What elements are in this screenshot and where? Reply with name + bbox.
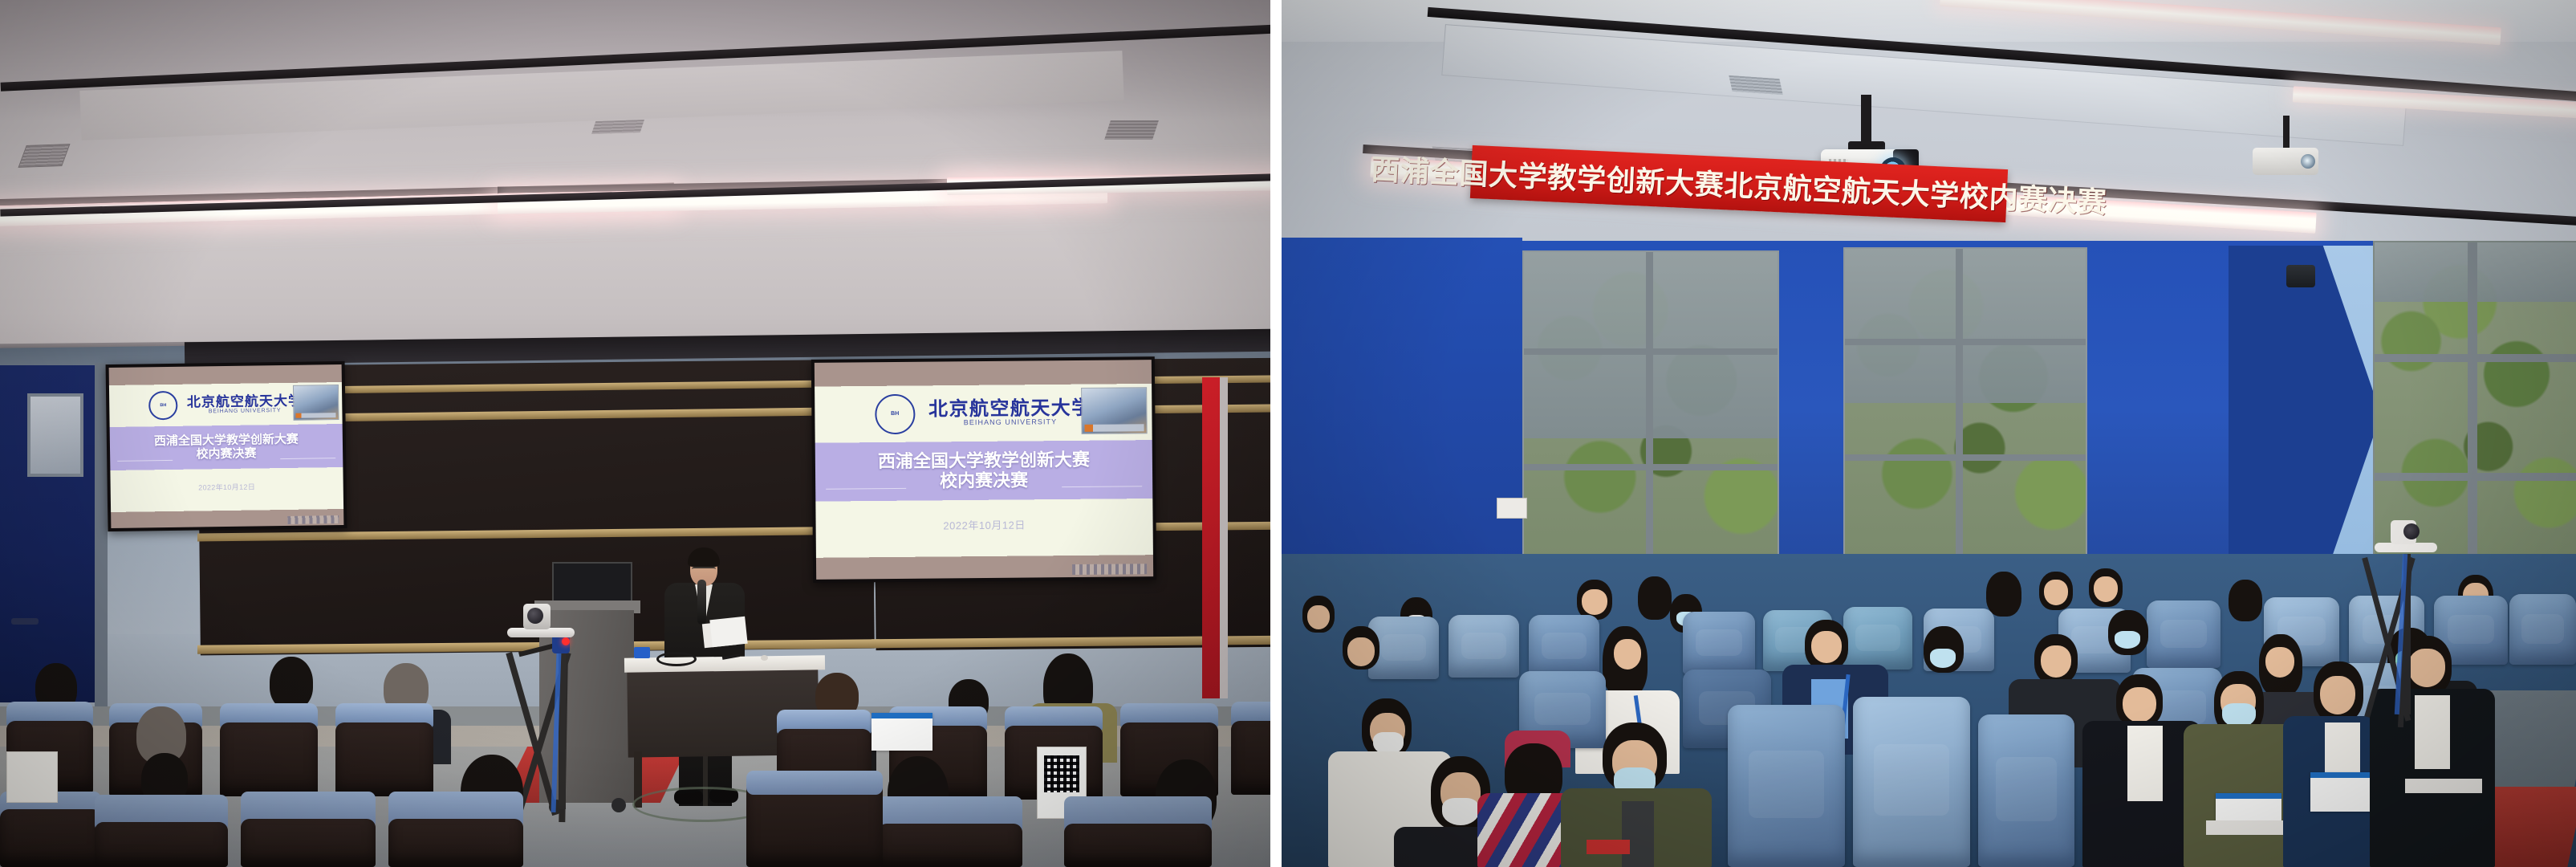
seat-back[interactable] — [878, 824, 1022, 867]
slide-date: 2022年10月12日 — [111, 480, 343, 494]
judge-face — [2408, 649, 2445, 687]
notebook — [1587, 840, 1630, 854]
door-handle[interactable] — [11, 618, 39, 625]
audience-head — [2229, 580, 2262, 621]
seat-back[interactable] — [1064, 824, 1212, 867]
coiled-cable — [656, 652, 697, 666]
camera-lens-icon — [2403, 523, 2420, 539]
audience-face — [1307, 605, 1330, 629]
auditorium-seat[interactable] — [1728, 705, 1845, 867]
blue-box-object — [634, 647, 650, 658]
slide-title-line2: 校内赛决赛 — [940, 470, 1028, 491]
judge-face — [2320, 676, 2355, 714]
beihang-logo-icon: BH — [148, 391, 177, 420]
projector-mount — [2283, 116, 2290, 149]
window-shade[interactable] — [1845, 249, 2086, 403]
face-mask — [1442, 798, 1479, 825]
paper-stack — [2405, 779, 2482, 793]
window-mullion — [1845, 339, 2086, 345]
slide-title-line1: 西浦全国大学教学创新大赛 — [154, 432, 299, 448]
wall-speaker — [2286, 265, 2315, 287]
qr-code-icon — [1044, 755, 1079, 792]
audience-face — [1347, 637, 1375, 666]
ceiling-vent-icon — [1104, 120, 1159, 140]
window-mullion — [1524, 348, 1778, 355]
blue-wall-left — [1282, 238, 1522, 583]
right-photo: 西浦全国大学教学创新大赛北京航空航天大学校内赛决赛 — [1282, 0, 2576, 867]
wall-outlet[interactable] — [1497, 498, 1527, 519]
screenshot-root: BH 北京航空航天大学 BEIHANG UNIVERSITY 西浦全国大学教学创… — [0, 0, 2576, 867]
placard-name — [2310, 781, 2378, 789]
microphone-icon — [697, 580, 706, 625]
judge-shirt — [2415, 695, 2450, 769]
window-mullion — [1524, 464, 1778, 470]
audience-head — [1638, 576, 1672, 620]
projection-screen-right: BH 北京航空航天大学 BEIHANG UNIVERSITY 西浦全国大学教学创… — [811, 356, 1156, 583]
window-mullion — [1646, 252, 1653, 573]
window-mullion — [1956, 249, 1963, 570]
slide-date: 2022年10月12日 — [816, 516, 1153, 535]
left-photo: BH 北京航空航天大学 BEIHANG UNIVERSITY 西浦全国大学教学创… — [0, 0, 1270, 867]
slide-university: 北京航空航天大学 BEIHANG UNIVERSITY — [928, 399, 1092, 427]
placard-name — [872, 722, 932, 730]
seat-back[interactable] — [220, 722, 318, 796]
seat-back[interactable] — [1231, 721, 1270, 795]
seat-back[interactable] — [0, 809, 101, 867]
paper-sheet — [6, 751, 58, 803]
face-mask — [1930, 649, 1956, 668]
placard-name — [2216, 802, 2281, 810]
window-mullion — [2375, 473, 2576, 481]
slide-university: 北京航空航天大学 BEIHANG UNIVERSITY — [187, 394, 303, 415]
ceiling-vent-icon — [18, 144, 70, 168]
slide-university-cn: 北京航空航天大学 — [187, 394, 303, 409]
audience-face — [1582, 589, 1607, 615]
audience-face — [1614, 639, 1641, 670]
cabinet-caster — [611, 798, 626, 812]
slide-university-cn: 北京航空航天大学 — [928, 399, 1092, 420]
projector-lens-icon — [2301, 154, 2315, 169]
paper-stack — [2206, 820, 2283, 835]
presenter-paper — [709, 617, 747, 647]
window-mullion — [2468, 242, 2477, 572]
ceiling-vent-icon — [591, 120, 644, 134]
audience-shirt — [1622, 801, 1654, 867]
seat-back[interactable] — [388, 819, 523, 867]
audience-face — [1811, 631, 1842, 663]
slide-title: 西浦全国大学教学创新大赛 校内赛决赛 — [815, 440, 1153, 502]
name-placard — [872, 713, 932, 751]
eyeglasses-icon — [692, 567, 716, 574]
slide-thumbnail-image — [1081, 387, 1147, 434]
slide-university-en: BEIHANG UNIVERSITY — [964, 418, 1058, 426]
auditorium-seat[interactable] — [1683, 612, 1755, 674]
auditorium-seat[interactable] — [1448, 615, 1519, 678]
seat-cushion[interactable] — [746, 771, 883, 795]
seat-back[interactable] — [241, 819, 376, 867]
audience-face — [2041, 645, 2071, 678]
auditorium-seat[interactable] — [1843, 607, 1912, 670]
audience-face — [2265, 647, 2294, 678]
face-mask — [2115, 631, 2140, 649]
seat-back[interactable] — [335, 722, 433, 796]
door-window — [27, 393, 83, 477]
window-mullion — [2375, 354, 2576, 362]
slide-thumbnail-image — [293, 385, 339, 421]
red-wall-strip — [1202, 377, 1220, 698]
auditorium-seat[interactable] — [1978, 714, 2074, 867]
window — [1843, 247, 2087, 572]
audience-head — [270, 657, 313, 710]
judge-face — [2123, 687, 2156, 722]
window-mullion — [1845, 454, 2086, 461]
slide-university-en: BEIHANG UNIVERSITY — [209, 408, 282, 414]
slide-content: BH 北京航空航天大学 BEIHANG UNIVERSITY 西浦全国大学教学创… — [109, 364, 344, 528]
slide-content: BH 北京航空航天大学 BEIHANG UNIVERSITY 西浦全国大学教学创… — [815, 360, 1153, 580]
camera-lens-icon — [527, 608, 543, 624]
name-placard — [2310, 772, 2378, 812]
auditorium-seat[interactable] — [2147, 600, 2220, 668]
slide-taskbar — [288, 515, 339, 524]
projection-screen-left: BH 北京航空航天大学 BEIHANG UNIVERSITY 西浦全国大学教学创… — [106, 361, 347, 531]
slide-title: 西浦全国大学教学创新大赛 校内赛决赛 — [110, 424, 343, 470]
auditorium-seat[interactable] — [1529, 615, 1599, 678]
beihang-logo-icon: BH — [875, 393, 916, 434]
judge-shirt — [2127, 726, 2163, 801]
small-white-object — [761, 655, 768, 661]
audience-head — [1986, 572, 2021, 617]
recording-indicator-icon — [562, 637, 570, 645]
window — [1522, 250, 1779, 575]
photo-gutter — [1270, 0, 1282, 867]
slide-title-line1: 西浦全国大学教学创新大赛 — [878, 450, 1090, 472]
auditorium-seat[interactable] — [1853, 697, 1970, 867]
audience-face — [2094, 576, 2118, 602]
wall-trim — [1220, 377, 1228, 698]
auditorium-seat[interactable] — [2509, 594, 2576, 665]
audience-face — [2044, 580, 2068, 605]
slide-title-line2: 校内赛决赛 — [197, 446, 257, 461]
slide-taskbar — [1072, 564, 1147, 575]
seat-back[interactable] — [95, 822, 228, 867]
projector-mount — [1861, 95, 1871, 144]
